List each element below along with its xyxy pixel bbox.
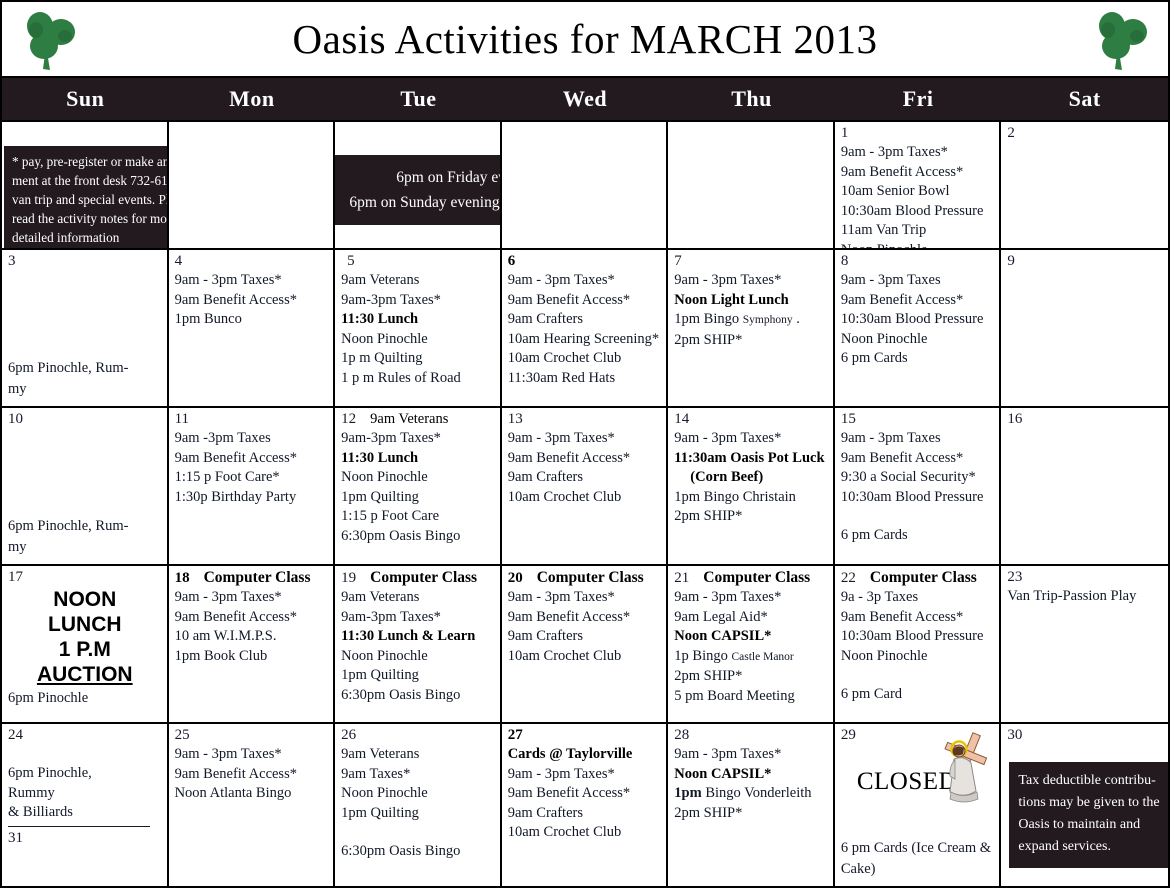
day-number: 13 [508,411,662,428]
event-item: 1pm Bingo Symphony . [674,310,828,331]
calendar-day-24[interactable]: 246pm Pinochle,Rummy& Billiards31 [2,724,169,886]
note-box-evening: 6pm on Friday evening: Pinochle, 5 in 16… [335,155,502,225]
day-event-list: 9am - 3pm Taxes*11:30am Oasis Pot Luck(C… [674,429,828,527]
calendar-cell-note[interactable]: 6pm on Friday evening: Pinochle, 5 in 16… [335,122,502,250]
day-header: 21Computer Class [674,569,828,587]
calendar-day-8[interactable]: 89am - 3pm Taxes9am Benefit Access*10:30… [835,250,1002,408]
event-item: 9am Legal Aid* [674,608,828,628]
event-item: 9am Veterans [341,271,495,291]
event-item: 11:30am Oasis Pot Luck [674,449,828,469]
calendar-day-4[interactable]: 49am - 3pm Taxes*9am Benefit Access*1pm … [169,250,336,408]
day-event-list: 9am - 3pm Taxes*9am Benefit Access*1pm B… [175,271,329,330]
day-number-31: 31 [8,830,162,847]
event-item: 6:30pm Oasis Bingo [341,686,495,706]
day-event-list: 9am - 3pm Taxes9am Benefit Access*9:30 a… [841,429,995,546]
event-item: Noon Atlanta Bingo [175,784,329,804]
calendar-day-10[interactable]: 106pm Pinochle, Rum-my [2,408,169,566]
event-item: 1pm Quilting [341,488,495,508]
event-item: 1p m Quilting [341,349,495,369]
day-number: 10 [8,411,162,428]
note-box-text: 6pm on Friday evening: Pinochle, 5 in 16… [335,155,502,225]
note-line: 6pm on Sunday evening: Pinochle, Rummy &… [341,190,502,215]
day-number: 16 [1007,411,1163,428]
day-number: 2 [1007,125,1163,142]
day-event-list: 9am - 3pm Taxes9am Benefit Access*10:30a… [841,271,995,369]
note-line: ment at the front desk 732-6132 for [12,171,169,190]
event-item: Rummy [8,784,162,804]
event-item: 9am Benefit Access* [175,608,329,628]
calendar-cell-empty [502,122,669,250]
weekday-header-row: Sun Mon Tue Wed Thu Fri Sat [2,78,1168,122]
calendar-day-20[interactable]: 20Computer Class 9am - 3pm Taxes*9am Ben… [502,566,669,724]
calendar-day-11[interactable]: 119am -3pm Taxes9am Benefit Access*1:15 … [169,408,336,566]
event-item: 9am - 3pm Taxes* [508,765,662,785]
day-header: 129am Veterans [341,411,495,428]
event-item: 10am Crochet Club [508,823,662,843]
event-item: 1pm Bunco [175,310,329,330]
event-item: 9am - 3pm Taxes* [175,271,329,291]
note-box-asterisk: * pay, pre-register or make an appoint-m… [4,146,169,250]
event-item: 9am-3pm Taxes* [341,429,495,449]
calendar-cell-empty [169,122,336,250]
event-item: 9am Crafters [508,468,662,488]
day-number: 6 [508,253,662,270]
note-line: read the activity notes for more [12,209,169,228]
calendar-day-25[interactable]: 259am - 3pm Taxes*9am Benefit Access*Noo… [169,724,336,886]
event-item: 6pm Pinochle [8,689,162,709]
day-event-list: 9am - 3pm Taxes*9am Benefit Access*9am C… [508,271,662,388]
day-number: 11 [175,411,329,428]
event-item: 1:15 p Foot Care* [175,468,329,488]
day-number: 30 [1007,727,1163,744]
event-item: 9am Benefit Access* [841,291,995,311]
day-number: 7 [674,253,828,270]
day-number: 27 [508,727,662,744]
event-item: Noon Pinochle [841,647,995,667]
note-box-tax: Tax deductible contribu-tions may be giv… [1009,762,1168,868]
calendar-day-29[interactable]: 29CLOSED6 pm Cards (Ice Cream &Cake) [835,724,1002,886]
day-number: 19 [341,570,356,587]
day-event-list: 9am - 3pm Taxes*9am Legal Aid*Noon CAPSI… [674,588,828,706]
event-item: 2pm SHIP* [674,804,828,824]
cell-divider [8,826,150,827]
day-number: 26 [341,727,495,744]
event-item: 2pm SHIP* [674,667,828,687]
event-item: 9am Benefit Access* [175,449,329,469]
calendar-day-2[interactable]: 2 [1001,122,1168,250]
note-box-text: Tax deductible contribu-tions may be giv… [1009,762,1168,868]
event-item: 10am Senior Bowl [841,182,995,202]
event-item: 10am Crochet Club [508,349,662,369]
day-event-list: 9am-3pm Taxes*11:30 LunchNoon Pinochle1p… [341,429,495,546]
day-event-list: 9am - 3pm Taxes*Noon CAPSIL*1pm Bingo Vo… [674,745,828,823]
auction-line: 1 P.M [8,637,162,662]
day-number: 18 [175,570,190,587]
event-item: 1pm Quilting [341,666,495,686]
day-event-list: 9am Veterans9am Taxes*Noon Pinochle1pm Q… [341,745,495,862]
day-number: 14 [674,411,828,428]
calendar-day-7[interactable]: 79am - 3pm Taxes*Noon Light Lunch1pm Bin… [668,250,835,408]
event-item: 11:30am Red Hats [508,369,662,389]
shamrock-icon [16,8,82,72]
event-item: 9am Benefit Access* [508,608,662,628]
event-spacer [8,745,162,764]
event-item: 1p Bingo Castle Manor [674,647,828,668]
day-bottom-note: 6pm Pinochle, Rum-my [8,358,163,400]
weekday-thu: Thu [668,78,835,120]
calendar-day-9[interactable]: 9 [1001,250,1168,408]
event-item: 6 pm Cards [841,349,995,369]
event-item: 9am Crafters [508,804,662,824]
event-item: 6:30pm Oasis Bingo [341,527,495,547]
event-item: 10:30am Blood Pressure [841,627,995,647]
day-event-list: 9am - 3pm Taxes*Noon Light Lunch1pm Bing… [674,271,828,350]
calendar-cell-empty [668,122,835,250]
auction-line: LUNCH [8,612,162,637]
day-header-event: 9am Veterans [370,411,448,428]
day-number: 17 [8,569,162,586]
note-line: van trip and special events. Please [12,190,169,209]
day-header: 22Computer Class [841,569,995,587]
event-item: 5 pm Board Meeting [674,687,828,707]
event-item: 9:30 a Social Security* [841,468,995,488]
calendar-grid: * pay, pre-register or make an appoint-m… [2,122,1168,886]
event-item: 11:30 Lunch [341,310,495,330]
day-event-list: 9am Veterans9am-3pm Taxes*11:30 LunchNoo… [341,271,495,388]
event-item: 10am Crochet Club [508,488,662,508]
event-item: 9am Benefit Access* [175,291,329,311]
day-number: 23 [1007,569,1163,586]
event-item: 9am Benefit Access* [508,291,662,311]
event-item: 6 pm Card [841,685,995,705]
event-item: 2pm SHIP* [674,507,828,527]
event-item: 9am Veterans [341,588,495,608]
event-item: 10am Hearing Screening* [508,330,662,350]
day-number: 20 [508,570,523,587]
note-line: detailed information [12,228,169,247]
note-line: * pay, pre-register or make an appoint- [12,152,169,171]
event-item: Noon Pinochle [341,784,495,804]
day-event-list: 9a - 3p Taxes9am Benefit Access*10:30am … [841,588,995,705]
event-item: 1:15 p Foot Care [341,507,495,527]
day-number: 5 [341,253,495,270]
event-item: 9am Crafters [508,310,662,330]
day-event-list: Cards @ Taylorville9am - 3pm Taxes*9am B… [508,745,662,843]
day-header-event: Computer Class [870,569,977,586]
day-event-list: 9am - 3pm Taxes*9am Benefit Access*9am C… [508,429,662,507]
event-item: 9am Taxes* [341,765,495,785]
day-event-list: 9am - 3pm Taxes*9am Benefit Access*Noon … [175,745,329,804]
day-number: 12 [341,411,356,428]
event-item: 9am Benefit Access* [508,784,662,804]
calendar-day-19[interactable]: 19Computer Class9am Veterans9am-3pm Taxe… [335,566,502,724]
calendar-day-14[interactable]: 149am - 3pm Taxes*11:30am Oasis Pot Luck… [668,408,835,566]
calendar-day-16[interactable]: 16 [1001,408,1168,566]
day-number: 1 [841,125,995,142]
event-spacer [841,507,995,526]
event-item: 1pm Bingo Vonderleith [674,784,828,804]
event-item: 2pm SHIP* [674,331,828,351]
event-item: 9am - 3pm Taxes* [508,588,662,608]
event-item: 9am - 3pm Taxes* [841,143,995,163]
day-bottom-note: 6 pm Cards (Ice Cream &Cake) [841,838,996,880]
page-title: Oasis Activities for MARCH 2013 [293,15,878,63]
weekday-sat: Sat [1001,78,1168,120]
event-item: 9a - 3p Taxes [841,588,995,608]
event-item: 10:30am Blood Pressure [841,310,995,330]
note-line: 6pm on Friday evening: Pinochle, 5 in 1 [341,165,502,190]
event-spacer [341,823,495,842]
event-item: 9am - 3pm Taxes* [508,429,662,449]
calendar-cell-note[interactable]: * pay, pre-register or make an appoint-m… [2,122,169,250]
day-event-list: 6pm Pinochle,Rummy& Billiards [8,745,162,823]
calendar-day-3[interactable]: 36pm Pinochle, Rum-my [2,250,169,408]
event-item: Van Trip-Passion Play [1007,587,1163,607]
calendar-day-22[interactable]: 22Computer Class9a - 3p Taxes9am Benefit… [835,566,1002,724]
day-event-list: 9am - 3pm Taxes*9am Benefit Access*9am C… [508,588,662,666]
event-item: 9am Benefit Access* [841,449,995,469]
calendar-day-21[interactable]: 21Computer Class9am - 3pm Taxes*9am Lega… [668,566,835,724]
event-item: 10am Crochet Club [508,647,662,667]
event-item: 9am Benefit Access* [841,608,995,628]
day-header: 19Computer Class [341,569,495,587]
event-item: 11:30 Lunch [341,449,495,469]
day-number: 8 [841,253,995,270]
weekday-tue: Tue [335,78,502,120]
event-item: 10 am W.I.M.P.S. [175,627,329,647]
note-line: expand services. [1018,836,1168,858]
event-item: 9am - 3pm Taxes* [508,271,662,291]
day-number: 15 [841,411,995,428]
day-event-list: 9am Veterans9am-3pm Taxes*11:30 Lunch & … [341,588,495,705]
day-header-event: Computer Class [370,569,477,586]
event-item: (Corn Beef) [674,468,828,488]
weekday-wed: Wed [502,78,669,120]
shamrock-icon [1088,8,1154,72]
event-item: 9am - 3pm Taxes* [674,745,828,765]
day-bottom-note: 6pm Pinochle, Rum-my [8,516,163,558]
calendar-day-6[interactable]: 69am - 3pm Taxes*9am Benefit Access*9am … [502,250,669,408]
calendar-day-15[interactable]: 159am - 3pm Taxes9am Benefit Access*9:30… [835,408,1002,566]
cross-bearer-icon [935,730,993,804]
event-item: Noon Pinochle [841,241,995,251]
note-line: tions may be given to the [1018,792,1168,814]
event-item: 9am Crafters [508,627,662,647]
day-event-list: 9am -3pm Taxes9am Benefit Access*1:15 p … [175,429,329,507]
calendar-day-26[interactable]: 269am Veterans9am Taxes*Noon Pinochle1pm… [335,724,502,886]
day-number: 21 [674,570,689,587]
note-line: Oasis to maintain and [1018,814,1168,836]
event-item: 9am-3pm Taxes* [341,608,495,628]
day-header-event: Computer Class [537,569,644,586]
calendar-day-18[interactable]: 18Computer Class9am - 3pm Taxes*9am Bene… [169,566,336,724]
day-number: 28 [674,727,828,744]
event-item: Cards @ Taylorville [508,745,662,765]
calendar-day-12[interactable]: 129am Veterans9am-3pm Taxes*11:30 LunchN… [335,408,502,566]
day-number: 25 [175,727,329,744]
day-event-list: 9am - 3pm Taxes*9am Benefit Access*10 am… [175,588,329,666]
auction-line: AUCTION [8,662,162,687]
calendar-day-27[interactable]: 27Cards @ Taylorville9am - 3pm Taxes*9am… [502,724,669,886]
calendar-day-5[interactable]: 59am Veterans9am-3pm Taxes*11:30 LunchNo… [335,250,502,408]
weekday-mon: Mon [169,78,336,120]
calendar-day-30[interactable]: 30Tax deductible contribu-tions may be g… [1001,724,1168,886]
event-item: 1:30p Birthday Party [175,488,329,508]
day-header-event: Computer Class [204,569,311,586]
calendar-day-13[interactable]: 139am - 3pm Taxes*9am Benefit Access*9am… [502,408,669,566]
note-box-text: * pay, pre-register or make an appoint-m… [4,146,169,250]
event-item: 9am - 3pm Taxes [841,271,995,291]
event-item: 9am - 3pm Taxes [841,429,995,449]
event-item: Noon CAPSIL* [674,627,828,647]
day-number: 22 [841,570,856,587]
event-item: & Billiards [8,803,162,823]
event-item: 9am - 3pm Taxes* [674,588,828,608]
event-item: 9am - 3pm Taxes* [175,588,329,608]
calendar-day-28[interactable]: 289am - 3pm Taxes*Noon CAPSIL*1pm Bingo … [668,724,835,886]
weekday-fri: Fri [835,78,1002,120]
event-item: 9am-3pm Taxes* [341,291,495,311]
calendar-day-23[interactable]: 23Van Trip-Passion Play [1001,566,1168,724]
event-item: Noon CAPSIL* [674,765,828,785]
event-item: 9am - 3pm Taxes* [175,745,329,765]
event-item: 1pm Quilting [341,804,495,824]
day-header: 20Computer Class [508,569,662,587]
event-item: Noon Pinochle [341,330,495,350]
event-item: 11:30 Lunch & Learn [341,627,495,647]
calendar-day-17[interactable]: 17NOONLUNCH1 P.MAUCTION6pm Pinochle [2,566,169,724]
event-item: 6:30pm Oasis Bingo [341,842,495,862]
event-item: 9am - 3pm Taxes* [674,429,828,449]
day-number: 4 [175,253,329,270]
event-item: Noon Pinochle [841,330,995,350]
event-item: 10:30am Blood Pressure [841,488,995,508]
auction-line: NOON [8,587,162,612]
event-item: 9am Benefit Access* [841,163,995,183]
event-item: 1 p m Rules of Road [341,369,495,389]
event-item: 11am Van Trip [841,221,995,241]
event-item: Noon Light Lunch [674,291,828,311]
event-item: 6pm Pinochle, [8,764,162,784]
event-item: 9am -3pm Taxes [175,429,329,449]
day-number: 3 [8,253,162,270]
event-item: 9am Benefit Access* [508,449,662,469]
event-item: 1pm Bingo Christain [674,488,828,508]
day-header-event: Computer Class [703,569,810,586]
event-item: 9am Veterans [341,745,495,765]
title-banner: Oasis Activities for MARCH 2013 [2,2,1168,78]
weekday-sun: Sun [2,78,169,120]
day-number: 9 [1007,253,1163,270]
day-number: 24 [8,727,162,744]
event-item: 9am - 3pm Taxes* [674,271,828,291]
event-item: 10:30am Blood Pressure [841,202,995,222]
calendar-day-1[interactable]: 19am - 3pm Taxes*9am Benefit Access*10am… [835,122,1002,250]
auction-announcement: NOONLUNCH1 P.MAUCTION [8,587,162,687]
day-event-list: 9am - 3pm Taxes*9am Benefit Access*10am … [841,143,995,250]
event-item: Noon Pinochle [341,468,495,488]
event-spacer [841,666,995,685]
event-item: 1pm Book Club [175,647,329,667]
event-item: 9am Benefit Access* [175,765,329,785]
note-line: Tax deductible contribu- [1018,770,1168,792]
calendar-page: Oasis Activities for MARCH 2013 Sun Mon … [0,0,1170,888]
day-header: 18Computer Class [175,569,329,587]
event-item: Noon Pinochle [341,647,495,667]
day-event-list: Van Trip-Passion Play [1007,587,1163,607]
event-item: 6 pm Cards [841,526,995,546]
